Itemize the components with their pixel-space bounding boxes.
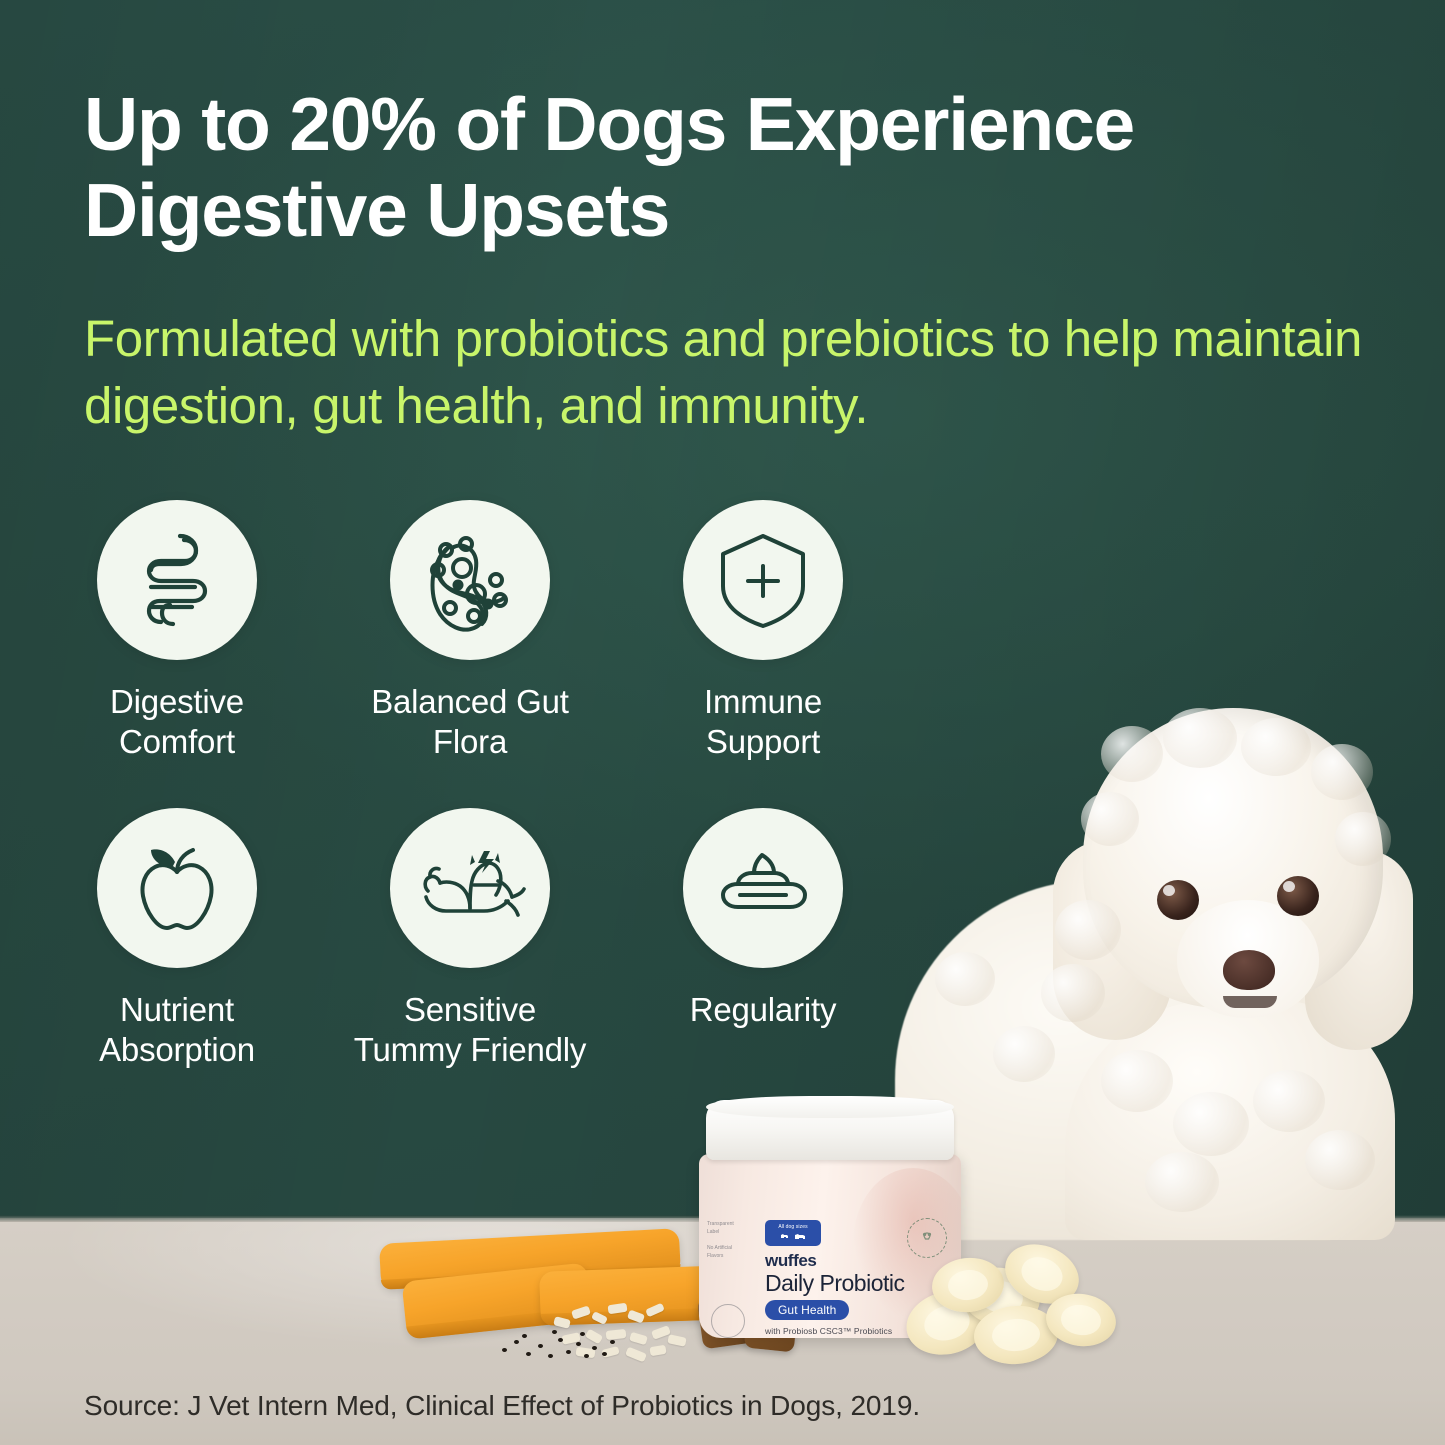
banana-core: [946, 1268, 989, 1302]
dog-eye-right: [1277, 876, 1319, 916]
seed: [548, 1354, 553, 1358]
bacteria-icon: [418, 528, 522, 632]
banana-core: [991, 1317, 1040, 1353]
seed: [526, 1352, 531, 1356]
jar-brand-name: wuffes: [765, 1251, 816, 1271]
seed: [592, 1346, 597, 1350]
oat-flake: [667, 1334, 686, 1347]
benefit-label: Balanced GutFlora: [336, 682, 604, 763]
seed: [580, 1332, 585, 1336]
jar-category-pill: Gut Health: [765, 1300, 849, 1320]
dog-eye-left: [1157, 880, 1199, 920]
benefit-icon-circle: [683, 808, 843, 968]
benefit-nutrient-absorption[interactable]: NutrientAbsorption: [97, 808, 282, 1071]
dog-photo-bichon-frise: [905, 700, 1445, 1230]
product-marketing-image: Up to 20% of Dogs Experience Digestive U…: [0, 0, 1445, 1445]
dog-mouth: [1223, 996, 1277, 1008]
apple-icon: [129, 838, 225, 938]
dog-fur-curl: [1101, 1050, 1173, 1112]
oat-flake: [645, 1303, 665, 1318]
dog-fur-curl: [1041, 964, 1105, 1022]
dog-fur-curl: [1101, 726, 1163, 782]
seed: [610, 1340, 615, 1344]
dog-eye-glint-right: [1283, 881, 1295, 892]
seed: [558, 1338, 563, 1342]
seed: [566, 1350, 571, 1354]
benefit-label: Regularity: [658, 990, 868, 1030]
jar-side-text: Transparent Label No Artificial Flavors: [707, 1220, 753, 1260]
jar-probiotic-strain: with Probiosb CSC3™ Probiotics: [765, 1326, 892, 1336]
jar-size-badge-label: All dog sizes: [778, 1225, 807, 1230]
banana-core: [1060, 1303, 1103, 1337]
dog-eye-glint-left: [1163, 885, 1175, 896]
shield-plus-icon: [715, 530, 811, 630]
benefit-balanced-gut-flora[interactable]: Balanced GutFlora: [390, 500, 604, 763]
page-headline: Up to 20% of Dogs Experience Digestive U…: [84, 82, 1374, 253]
benefit-label: NutrientAbsorption: [72, 990, 282, 1071]
dog-tummy-ache-icon: [414, 845, 526, 931]
dog-fur-curl: [1253, 1070, 1325, 1132]
dog-fur-curl: [1055, 900, 1121, 960]
oat-flake: [649, 1345, 666, 1357]
jar-size-badge: All dog sizes: [765, 1220, 821, 1246]
seed: [514, 1340, 519, 1344]
benefit-label: SensitiveTummy Friendly: [336, 990, 604, 1071]
dog-fur-curl: [1173, 1092, 1249, 1156]
banana-core: [1016, 1251, 1067, 1296]
dog-fur-curl: [1081, 792, 1139, 846]
page-subheadline: Formulated with probiotics and prebiotic…: [84, 306, 1384, 440]
benefit-digestive-comfort[interactable]: DigestiveComfort: [97, 500, 282, 763]
seed: [602, 1352, 607, 1356]
jar-side-seal-icon: [711, 1304, 745, 1338]
benefit-regularity[interactable]: Regularity: [683, 808, 868, 1030]
seed: [576, 1342, 581, 1346]
dog-fur-curl: [1145, 1152, 1219, 1212]
seed: [522, 1334, 527, 1338]
benefit-icon-circle: [390, 500, 550, 660]
benefit-icon-circle: [390, 808, 550, 968]
dog-fur-curl: [1163, 708, 1237, 768]
stool-icon: [714, 849, 812, 927]
benefit-label: DigestiveComfort: [72, 682, 282, 763]
oat-flake: [607, 1303, 627, 1315]
dog-fur-curl: [1335, 812, 1391, 866]
dog-fur-curl: [935, 952, 995, 1006]
benefit-sensitive-tummy-friendly[interactable]: SensitiveTummy Friendly: [390, 808, 604, 1071]
benefit-label: ImmuneSupport: [658, 682, 868, 763]
jar-product-title: Daily Probiotic: [765, 1270, 905, 1297]
dog-fur-curl: [993, 1026, 1055, 1082]
source-citation: Source: J Vet Intern Med, Clinical Effec…: [84, 1390, 920, 1422]
dog-fur-curl: [1241, 718, 1311, 776]
seed: [502, 1348, 507, 1352]
dog-silhouettes-icon: [780, 1232, 807, 1241]
benefit-immune-support[interactable]: ImmuneSupport: [683, 500, 868, 763]
intestine-icon: [134, 532, 220, 628]
black-seeds-scatter: [492, 1320, 642, 1364]
benefit-icon-circle: [683, 500, 843, 660]
benefit-icon-circle: [97, 808, 257, 968]
seed: [552, 1330, 557, 1334]
benefit-icon-circle: [97, 500, 257, 660]
dog-nose: [1223, 950, 1275, 990]
seed: [584, 1354, 589, 1358]
vet-approved-seal-icon: [907, 1218, 947, 1258]
seed: [538, 1344, 543, 1348]
dog-fur-curl: [1305, 1130, 1375, 1190]
dog-fur-curl: [1311, 744, 1373, 800]
jar-lid-rim: [706, 1096, 954, 1118]
oat-flake: [571, 1305, 591, 1319]
